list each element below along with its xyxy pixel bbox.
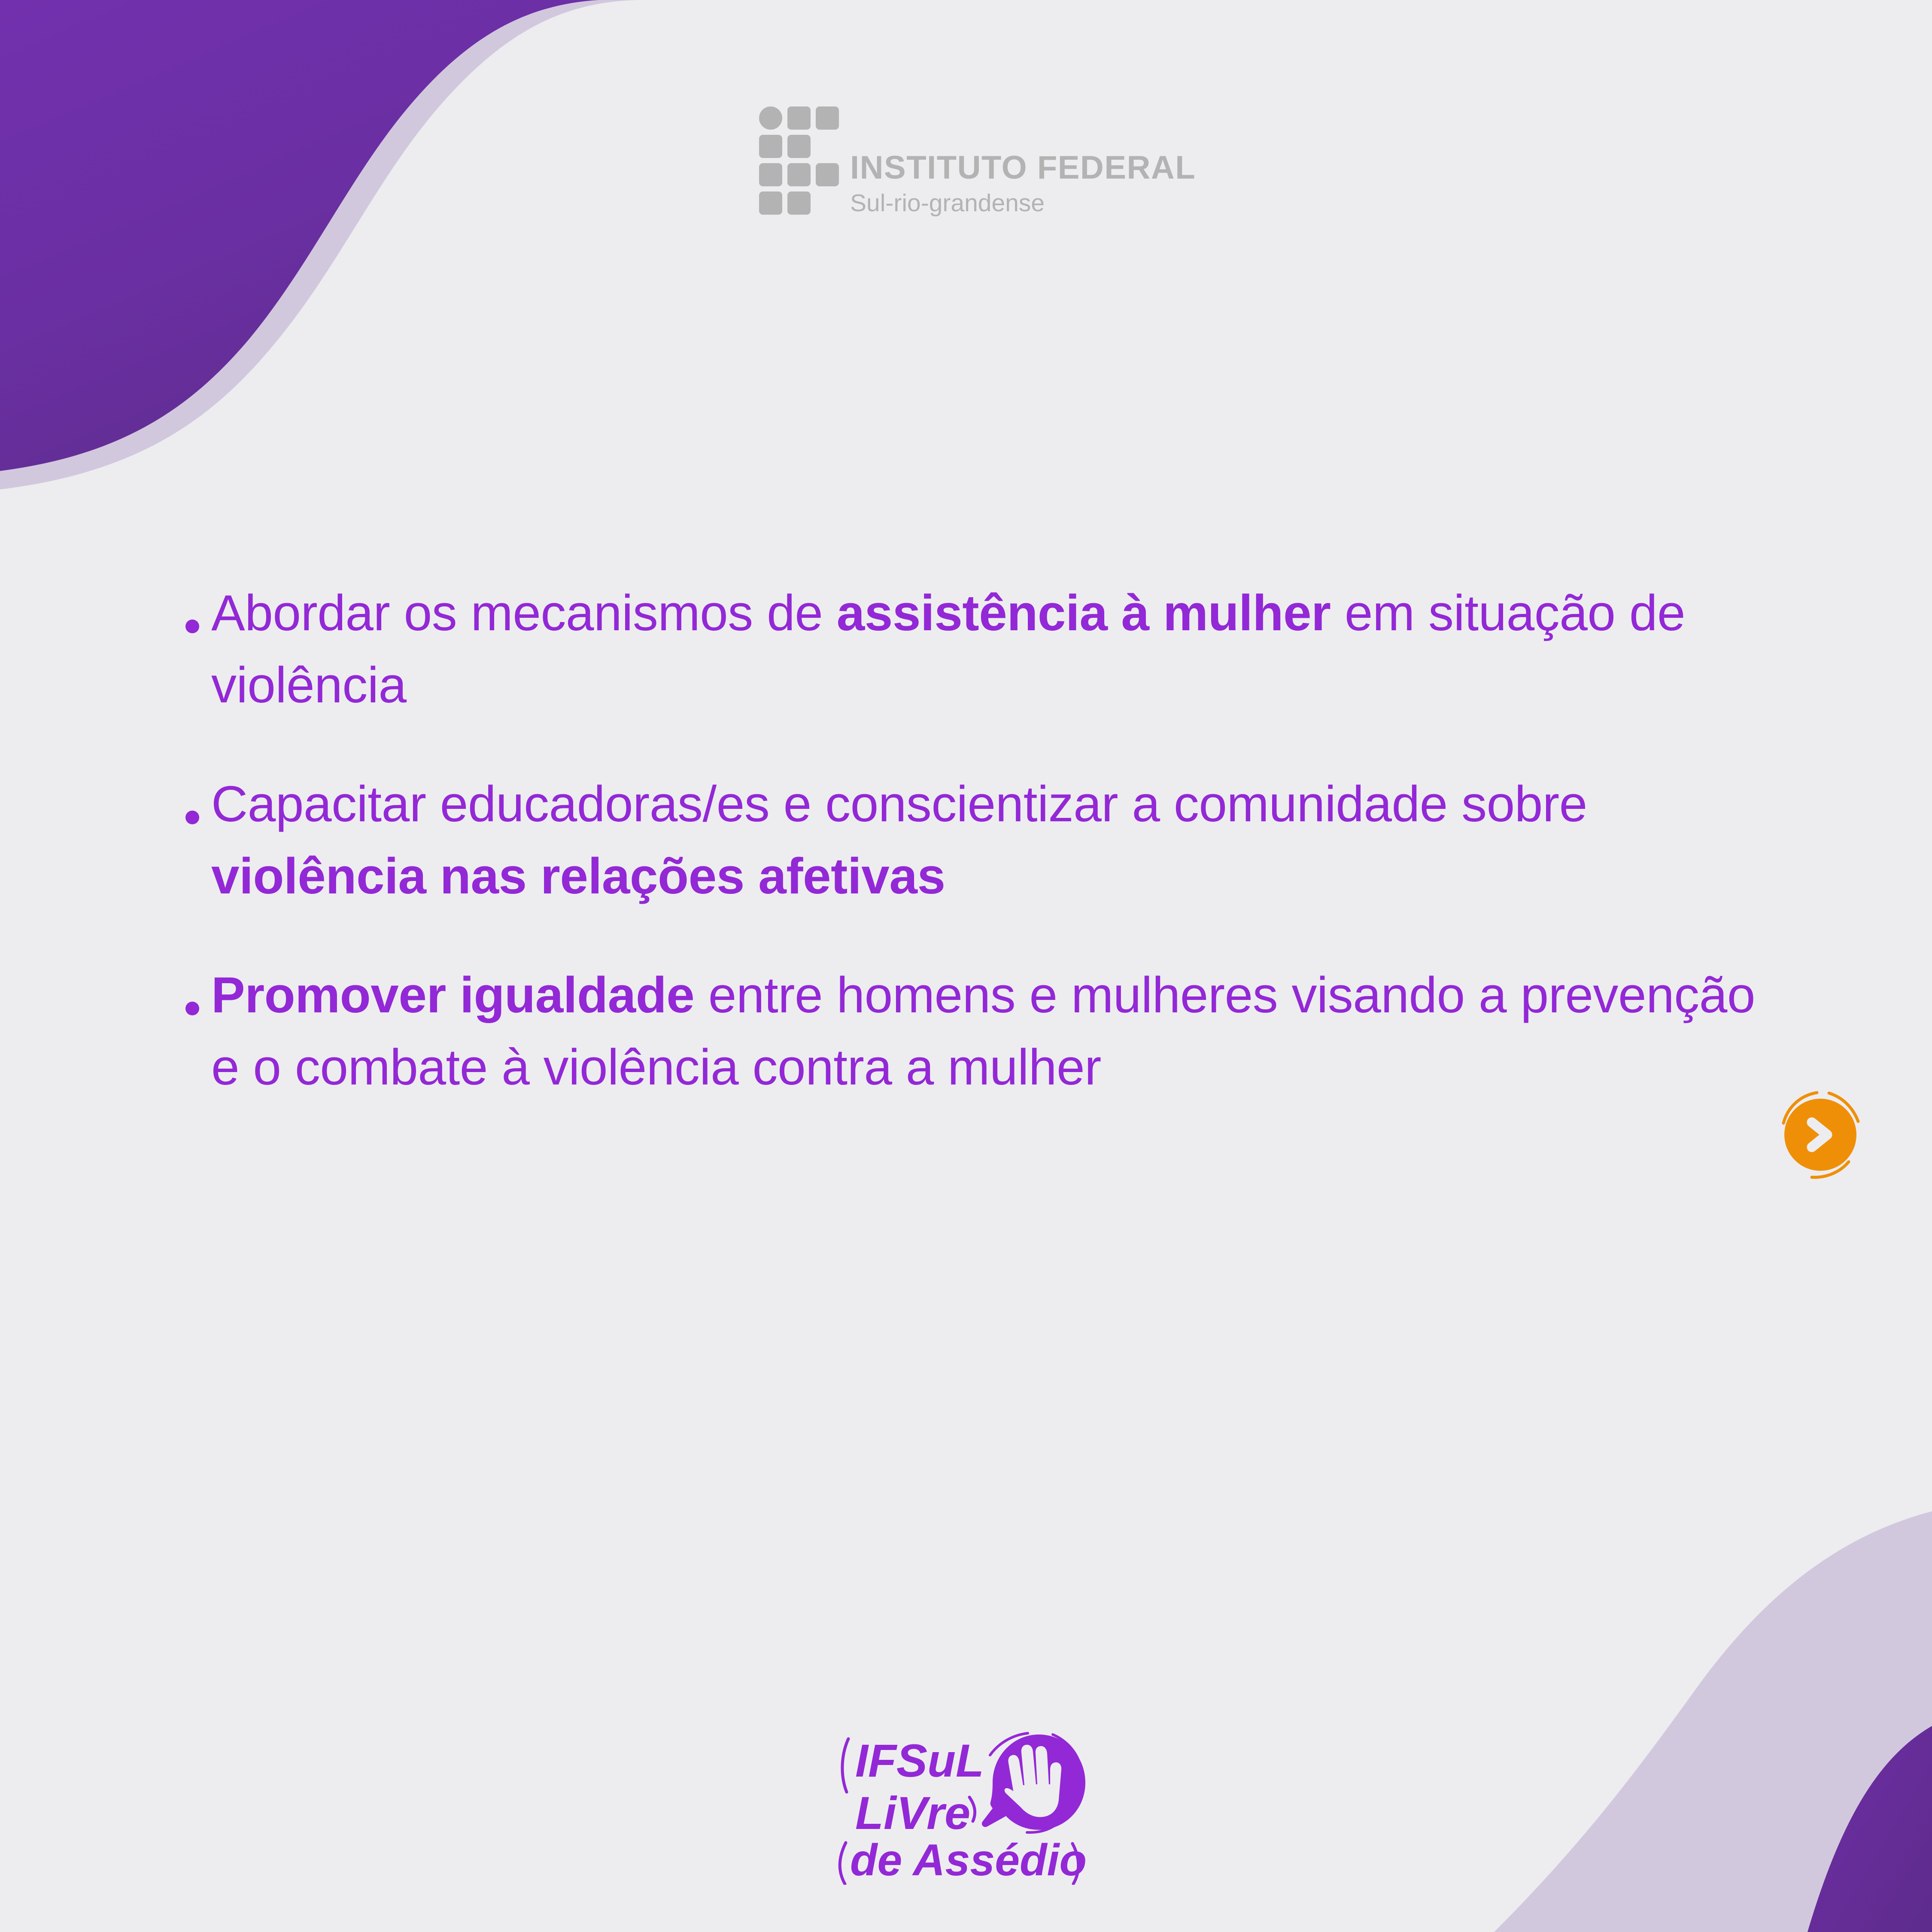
wave-lavender-band [0, 0, 644, 489]
instituto-federal-logo: INSTITUTO FEDERAL Sul-rio-grandense [759, 106, 1196, 216]
list-item: Promover igualdade entre homens e mulher… [185, 960, 1774, 1103]
if-mark-cell-r4c2 [787, 191, 811, 215]
wave-purple-body [0, 0, 599, 471]
if-mark-cell-r1c1 [759, 106, 782, 130]
if-mark-cell-r3c2 [787, 163, 811, 186]
if-mark-cell-r1c3 [816, 106, 839, 130]
if-mark-cell-r2c1 [759, 135, 782, 158]
campaign-paren-open-bottom [840, 1843, 846, 1884]
bullet-3-seg-0: Promover igualdade [211, 967, 694, 1024]
bullet-1-seg-0: Abordar os mecanismos de [211, 585, 837, 641]
if-mark-cell-r3c3 [816, 163, 839, 186]
if-mark-cell-r3c1 [759, 163, 782, 186]
if-mark-cell-r2c2 [787, 135, 811, 158]
instituto-federal-wordmark: INSTITUTO FEDERAL Sul-rio-grandense [850, 152, 1196, 216]
ifsul-livre-de-assedio-logo: IFSuL LiVre de Assédio [833, 1722, 1099, 1885]
instituto-federal-grid-mark [759, 106, 839, 215]
speech-bubble-raised-hand-icon [982, 1733, 1085, 1832]
if-mark-cell-r4c3-empty [816, 191, 839, 215]
top-left-wave-decoration [0, 0, 644, 537]
bullet-2-seg-1: violência nas relações afetivas [211, 848, 945, 905]
if-mark-cell-r1c2 [787, 106, 811, 130]
bullet-text-assistencia-mulher: Abordar os mecanismos de assistência à m… [211, 577, 1774, 721]
list-item: Capacitar educadoras/es e conscientizar … [185, 769, 1774, 912]
slide-canvas: INSTITUTO FEDERAL Sul-rio-grandense Abor… [0, 0, 1932, 1932]
if-mark-cell-r4c1 [759, 191, 782, 215]
campaign-line-3: de Assédio [850, 1835, 1087, 1885]
instituto-federal-title: INSTITUTO FEDERAL [850, 152, 1196, 184]
next-button[interactable] [1772, 1086, 1871, 1185]
bullet-dot-icon [185, 1002, 199, 1015]
bottom-wave-lavender [1494, 1511, 1932, 1932]
bullet-1-seg-1: assistência à mulher [837, 585, 1331, 641]
campaign-line-1: IFSuL [855, 1735, 984, 1786]
instituto-federal-subtitle: Sul-rio-grandense [850, 191, 1196, 216]
bullet-text-capacitar-educadoras: Capacitar educadoras/es e conscientizar … [211, 769, 1774, 912]
bullet-dot-icon [185, 620, 199, 633]
bullet-2-seg-0: Capacitar educadoras/es e conscientizar … [211, 776, 1587, 832]
if-mark-cell-r2c3-empty [816, 135, 839, 158]
bullet-dot-icon [185, 811, 199, 824]
bottom-wave-purple [1807, 1726, 1932, 1932]
bullet-text-promover-igualdade: Promover igualdade entre homens e mulher… [211, 960, 1774, 1103]
objectives-bullet-list: Abordar os mecanismos de assistência à m… [185, 577, 1774, 1103]
bottom-right-wave-decoration [1309, 1460, 1932, 1932]
campaign-line-2: LiVre [855, 1787, 970, 1839]
list-item: Abordar os mecanismos de assistência à m… [185, 577, 1774, 721]
campaign-paren-open-top [842, 1739, 848, 1792]
